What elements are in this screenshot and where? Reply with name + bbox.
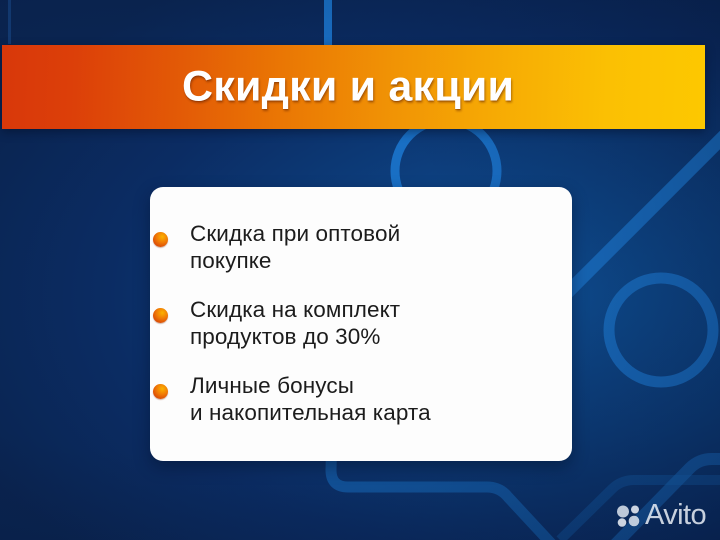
list-item: Скидка при оптовой покупке	[190, 220, 554, 274]
list-item-label: Скидка на комплект продуктов до 30%	[190, 296, 554, 350]
avito-brand-label: Avito	[645, 501, 706, 530]
avito-dots-logo-icon	[616, 505, 641, 527]
list-item: Скидка на комплект продуктов до 30%	[190, 296, 554, 350]
benefits-list: Скидка при оптовой покупке Скидка на ком…	[190, 220, 554, 443]
benefits-card: Скидка при оптовой покупке Скидка на ком…	[150, 187, 572, 461]
bullet-dot-icon	[153, 384, 168, 399]
header-banner: Скидки и акции	[2, 45, 705, 129]
list-item: Личные бонусы и накопительная карта	[190, 372, 554, 426]
list-item-label: Скидка при оптовой покупке	[190, 220, 554, 274]
bullet-dot-icon	[153, 308, 168, 323]
list-item-label: Личные бонусы и накопительная карта	[190, 372, 554, 426]
bullet-dot-icon	[153, 232, 168, 247]
slide-canvas: Скидки и акции Скидка при оптовой покупк…	[0, 0, 720, 540]
avito-watermark: Avito	[616, 501, 706, 530]
page-title: Скидки и акции	[182, 63, 514, 112]
